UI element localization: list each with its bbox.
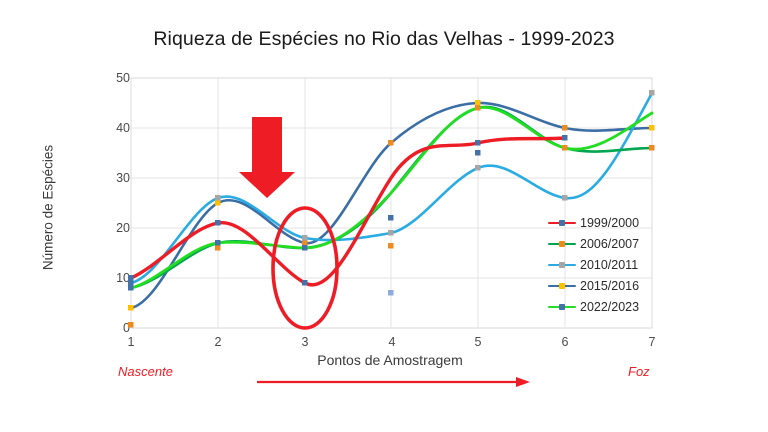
chart-figure: Riqueza de Espécies no Rio das Velhas - …	[0, 0, 768, 432]
legend-label-2022-2023: 2022/2023	[579, 300, 639, 314]
legend-swatch-2022-2023	[548, 301, 576, 313]
legend-swatch-1999-2000	[548, 217, 576, 229]
flow-direction-arrow-icon	[257, 377, 530, 387]
legend-label-2010-2011: 2010/2011	[579, 258, 638, 272]
legend-label-2015-2016: 2015/2016	[579, 279, 639, 293]
legend-item-2010-2011[interactable]: 2010/2011	[548, 254, 639, 275]
chart-legend: 1999/2000 2006/2007 2010/2011 2015/2016	[548, 212, 639, 317]
chart-canvas	[0, 0, 768, 432]
legend-item-2015-2016[interactable]: 2015/2016	[548, 275, 639, 296]
legend-item-1999-2000[interactable]: 1999/2000	[548, 212, 639, 233]
legend-label-2006-2007: 2006/2007	[579, 237, 639, 251]
legend-swatch-2006-2007	[548, 238, 576, 250]
legend-swatch-2010-2011	[548, 259, 576, 271]
legend-swatch-2015-2016	[548, 280, 576, 292]
legend-item-2022-2023[interactable]: 2022/2023	[548, 296, 639, 317]
legend-item-2006-2007[interactable]: 2006/2007	[548, 233, 639, 254]
legend-label-1999-2000: 1999/2000	[579, 216, 639, 230]
